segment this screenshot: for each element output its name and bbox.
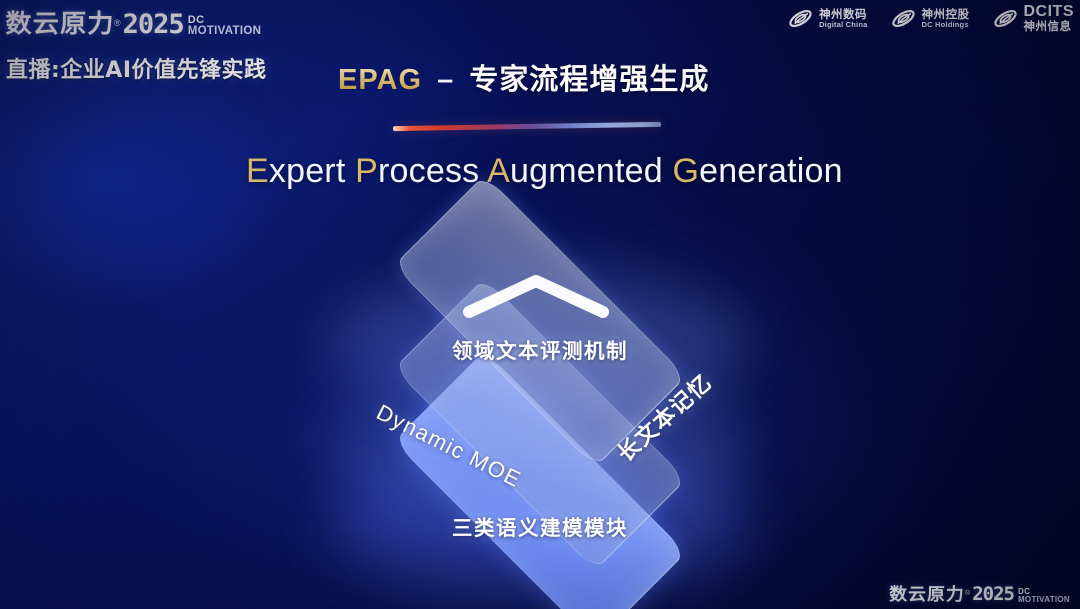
footer-logo-registered: ® xyxy=(965,590,970,597)
footer-logo-dc-motivation: DC MOTIVATION xyxy=(1018,588,1070,604)
layer-label-bottom: 三类语义建模模块 xyxy=(452,511,628,541)
layer-label-top: 领域文本评测机制 xyxy=(452,334,628,364)
footer-logo-motivation: MOTIVATION xyxy=(1018,596,1070,604)
slide-canvas: 数云原力 ® 2025 DC MOTIVATION 直播:企业AI价值先锋实践 … xyxy=(0,0,1080,609)
footer-logo-cn: 数云原力 xyxy=(889,580,965,605)
layered-architecture-diagram: 领域文本评测机制 Dynamic MOE 长文本记忆 三类语义建模模块 xyxy=(0,0,1080,609)
footer-watermark-logo: 数云原力 ® 2025 DC MOTIVATION xyxy=(891,580,1070,605)
footer-logo-year: 2025 xyxy=(972,583,1014,605)
